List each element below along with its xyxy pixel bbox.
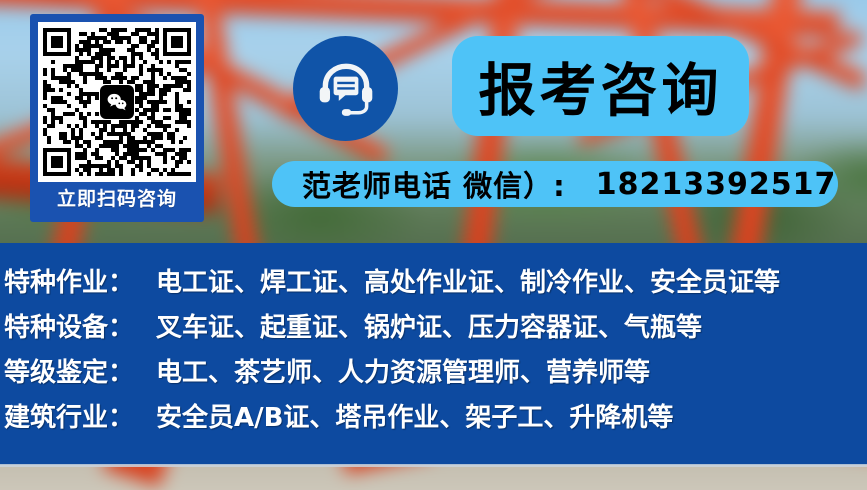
qr-code-card[interactable]: 立即扫码咨询	[30, 14, 204, 222]
category-row-special-operations: 特种作业： 电工证、焊工证、高处作业证、制冷作业、安全员证等	[0, 261, 867, 306]
qr-caption: 立即扫码咨询	[57, 190, 177, 209]
category-label: 特种作业：	[4, 261, 156, 306]
category-value: 电工证、焊工证、高处作业证、制冷作业、安全员证等	[156, 261, 867, 306]
consult-badge[interactable]: 报考咨询	[452, 36, 749, 136]
phone-label: 范老师电话 微信）:	[302, 163, 566, 205]
phone-contact-badge[interactable]: 范老师电话 微信）: 18213392517	[272, 161, 838, 207]
qr-code-image[interactable]	[38, 22, 196, 182]
category-label: 建筑行业：	[4, 396, 156, 441]
background-photo-bottom	[0, 465, 867, 490]
category-label: 特种设备：	[4, 306, 156, 351]
panel-divider	[0, 464, 867, 467]
category-value: 电工、茶艺师、人力资源管理师、营养师等	[156, 351, 867, 396]
promo-poster: 立即扫码咨询 报考咨询 范老师电话 微信）: 18213392517 特种作业：…	[0, 0, 867, 490]
category-value: 叉车证、起重证、锅炉证、压力容器证、气瓶等	[156, 306, 867, 351]
headset-support-icon[interactable]	[293, 36, 398, 141]
category-row-construction-industry: 建筑行业： 安全员A/B证、塔吊作业、架子工、升降机等	[0, 396, 867, 441]
category-label: 等级鉴定：	[4, 351, 156, 396]
phone-number[interactable]: 18213392517	[596, 167, 837, 202]
category-row-grade-assessment: 等级鉴定： 电工、茶艺师、人力资源管理师、营养师等	[0, 351, 867, 396]
certificate-categories-panel: 特种作业： 电工证、焊工证、高处作业证、制冷作业、安全员证等 特种设备： 叉车证…	[0, 243, 867, 465]
consult-label: 报考咨询	[479, 45, 723, 127]
wechat-icon	[100, 85, 134, 119]
category-row-special-equipment: 特种设备： 叉车证、起重证、锅炉证、压力容器证、气瓶等	[0, 306, 867, 351]
category-value: 安全员A/B证、塔吊作业、架子工、升降机等	[156, 396, 867, 441]
